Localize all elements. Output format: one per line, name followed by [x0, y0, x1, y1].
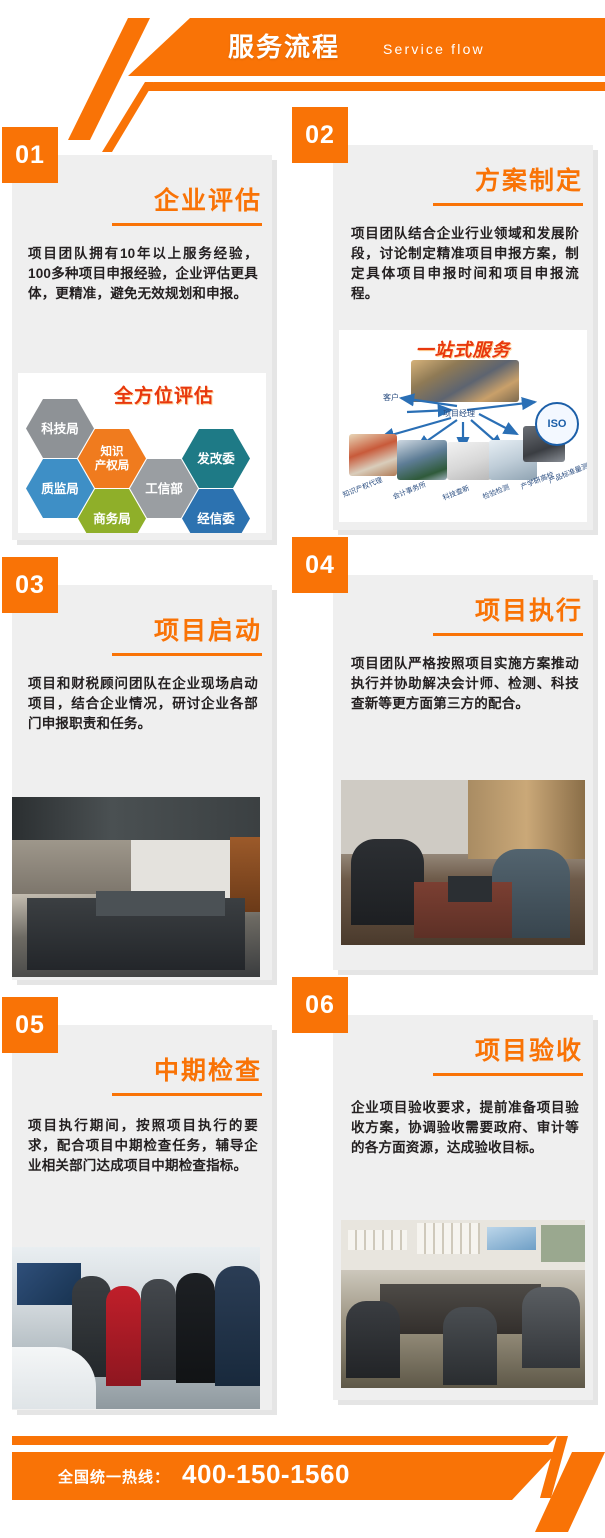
step-card-04[interactable]: 04 项目执行 项目团队严格按照项目实施方案推动执行并协助解决会计师、检测、科技…	[333, 575, 593, 970]
diagram-label-customer: 客户	[383, 392, 399, 403]
diagram-thumb-account	[397, 440, 447, 480]
step-badge-05: 05	[2, 997, 58, 1053]
step-card-05[interactable]: 05 中期检查 项目执行期间，按照项目执行的要求，配合项目中期检查任务，辅导企业…	[12, 1025, 272, 1410]
header-banner	[128, 18, 605, 76]
footer-stripe	[12, 1436, 557, 1445]
title-underline	[433, 633, 583, 636]
step-body-03: 项目和财税顾问团队在企业现场启动项目，结合企业情况，研讨企业各部门申报职责和任务…	[28, 674, 258, 734]
title-underline	[112, 653, 262, 656]
step-card-06[interactable]: 06 项目验收 企业项目验收要求，提前准备项目验收方案，协调验收需要政府、审计等…	[333, 1015, 593, 1400]
step-title-06: 项目验收	[333, 1031, 593, 1067]
step-title-02: 方案制定	[333, 161, 593, 197]
step-photo-04	[341, 780, 585, 945]
step-title-04: 项目执行	[333, 591, 593, 627]
step-title-05: 中期检查	[12, 1051, 272, 1087]
step-card-01[interactable]: 01 企业评估 项目团队拥有10年以上服务经验，100多种项目申报经验，企业评估…	[12, 155, 272, 540]
page-title: 服务流程	[228, 26, 340, 68]
header-chevron-tail	[60, 18, 150, 140]
step-body-06: 企业项目验收要求，提前准备项目验收方案，协调验收需要政府、审计等的各方面资源，达…	[351, 1098, 579, 1158]
step-badge-06: 06	[292, 977, 348, 1033]
step-badge-02: 02	[292, 107, 348, 163]
step-card-02[interactable]: 02 方案制定 项目团队结合企业行业领域和发展阶段，讨论制定精准项目申报方案，制…	[333, 145, 593, 530]
step-body-05: 项目执行期间，按照项目执行的要求，配合项目中期检查任务，辅导企业相关部门达成项目…	[28, 1116, 258, 1176]
title-underline	[112, 223, 262, 226]
step-body-02: 项目团队结合企业行业领域和发展阶段，讨论制定精准项目申报方案，制定具体项目申报时…	[351, 224, 579, 304]
step-photo-03	[12, 797, 260, 977]
page-header: 服务流程 Service flow	[0, 0, 605, 108]
hexagon-diagram-title: 全方位评估	[114, 381, 214, 408]
header-stripe	[145, 82, 605, 91]
page-footer: 全国统一热线： 400-150-1560	[0, 1430, 605, 1538]
diagram-thumb-search	[447, 442, 491, 480]
page-subtitle: Service flow	[383, 38, 485, 60]
step-title-03: 项目启动	[12, 611, 272, 647]
step-photo-05	[12, 1247, 260, 1409]
diagram-thumb-ip	[349, 434, 397, 476]
step-body-01: 项目团队拥有10年以上服务经验，100多种项目申报经验，企业评估更具体，更精准，…	[28, 244, 258, 304]
step-badge-04: 04	[292, 537, 348, 593]
hotline-label: 全国统一热线：	[58, 1466, 170, 1487]
hexagon-assessment-diagram: 全方位评估 科技局 知识 产权局 质监局 工信部 发改委 商务局 经信委	[18, 373, 266, 533]
title-underline	[112, 1093, 262, 1096]
step-body-04: 项目团队严格按照项目实施方案推动执行并协助解决会计师、检测、科技查新等更方面第三…	[351, 654, 579, 714]
step-badge-01: 01	[2, 127, 58, 183]
step-title-01: 企业评估	[12, 181, 272, 217]
step-card-03[interactable]: 03 项目启动 项目和财税顾问团队在企业现场启动项目，结合企业情况，研讨企业各部…	[12, 585, 272, 980]
step-badge-03: 03	[2, 557, 58, 613]
title-underline	[433, 203, 583, 206]
hotline-number[interactable]: 400-150-1560	[182, 1459, 350, 1490]
title-underline	[433, 1073, 583, 1076]
diagram-iso-seal: ISO	[535, 402, 579, 446]
step-photo-06	[341, 1220, 585, 1388]
one-stop-service-diagram: 一站式服务	[339, 330, 587, 522]
diagram-label-pm: 项目经理	[443, 408, 475, 419]
